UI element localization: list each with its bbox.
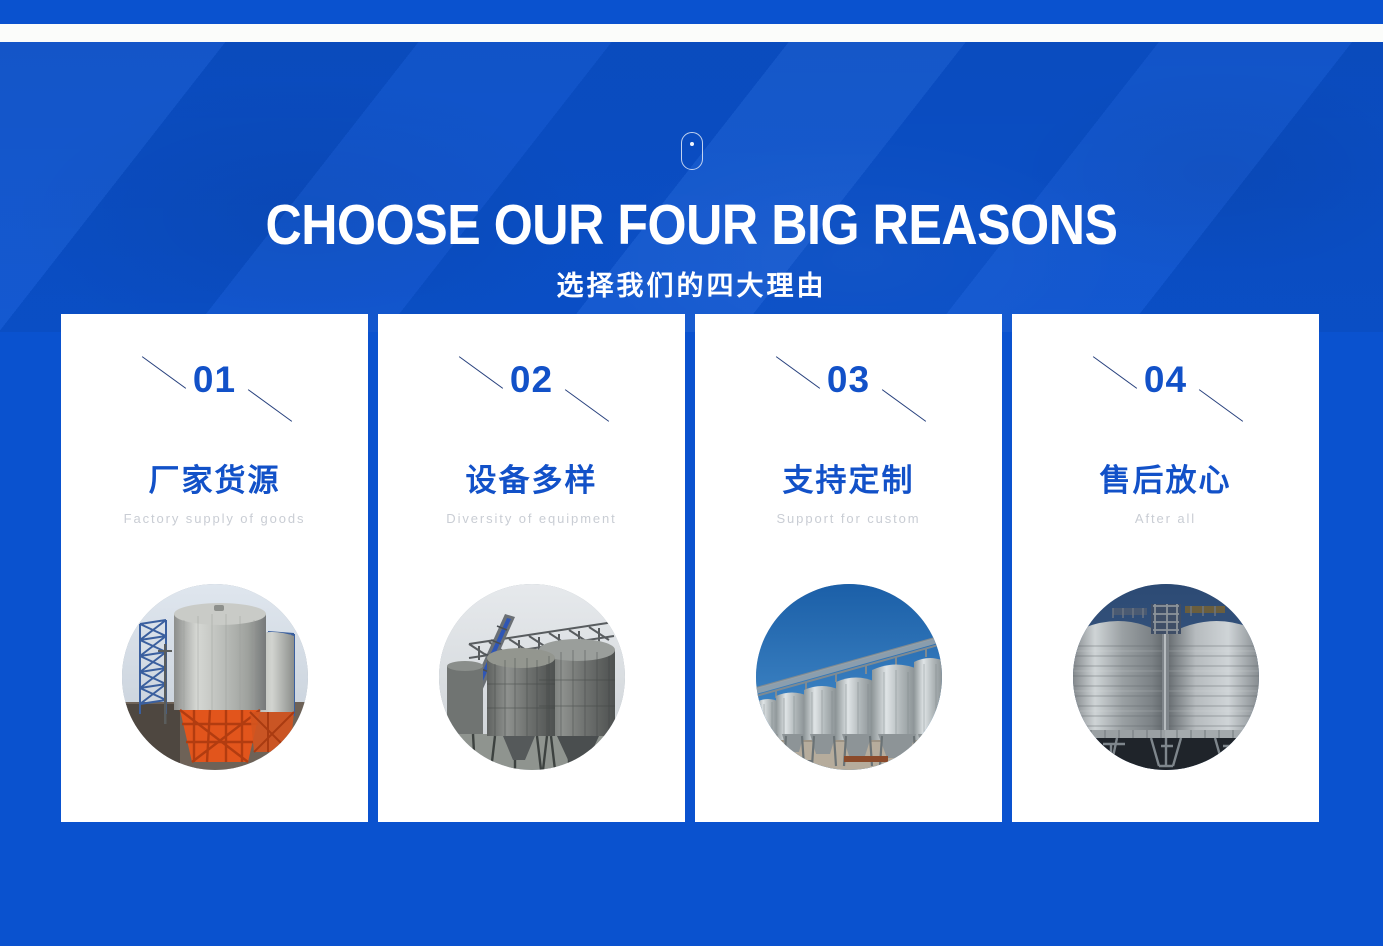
section-heading: CHOOSE OUR FOUR BIG REASONS 选择我们的四大理由 xyxy=(0,197,1383,300)
card-title-en: After all xyxy=(1012,510,1319,529)
page-title-cn: 选择我们的四大理由 xyxy=(0,273,1383,300)
card-photo xyxy=(1073,584,1259,770)
card-title-en: Support for custom xyxy=(695,510,1002,529)
mouse-scroll-icon[interactable] xyxy=(681,132,703,170)
card-number: 03 xyxy=(827,361,870,398)
card-title-cn: 售后放心 xyxy=(1012,462,1319,499)
slash-decor-bottom-right-icon xyxy=(1198,389,1242,422)
card-title-cn: 设备多样 xyxy=(378,462,685,499)
card-photo xyxy=(756,584,942,770)
card-title-cn: 厂家货源 xyxy=(61,462,368,499)
slash-decor-top-left-icon xyxy=(775,356,819,389)
mouse-wheel-dot xyxy=(690,142,694,146)
card-number-group: 01 xyxy=(61,361,368,419)
card-number-group: 03 xyxy=(695,361,1002,419)
card-number-group: 04 xyxy=(1012,361,1319,419)
reason-card[interactable]: 01 厂家货源 Factory supply of goods xyxy=(61,314,368,822)
top-blue-band xyxy=(0,0,1383,24)
slash-decor-bottom-right-icon xyxy=(564,389,608,422)
card-photo xyxy=(122,584,308,770)
reason-card[interactable]: 03 支持定制 Support for custom xyxy=(695,314,1002,822)
slash-decor-top-left-icon xyxy=(458,356,502,389)
reason-card-list: 01 厂家货源 Factory supply of goods xyxy=(61,314,1322,822)
card-title-en: Factory supply of goods xyxy=(61,510,368,529)
slash-decor-bottom-right-icon xyxy=(247,389,291,422)
card-title-cn: 支持定制 xyxy=(695,462,1002,499)
slash-decor-bottom-right-icon xyxy=(881,389,925,422)
card-photo xyxy=(439,584,625,770)
card-number: 01 xyxy=(193,361,236,398)
card-number-group: 02 xyxy=(378,361,685,419)
slash-decor-top-left-icon xyxy=(141,356,185,389)
slash-decor-top-left-icon xyxy=(1092,356,1136,389)
card-title-en: Diversity of equipment xyxy=(378,510,685,529)
card-number: 04 xyxy=(1144,361,1187,398)
reason-card[interactable]: 04 售后放心 After all xyxy=(1012,314,1319,822)
page-title-en: CHOOSE OUR FOUR BIG REASONS xyxy=(83,197,1300,254)
white-divider-strip xyxy=(0,24,1383,42)
reason-card[interactable]: 02 设备多样 Diversity of equipment xyxy=(378,314,685,822)
card-number: 02 xyxy=(510,361,553,398)
section-background: CHOOSE OUR FOUR BIG REASONS 选择我们的四大理由 01… xyxy=(0,42,1383,946)
